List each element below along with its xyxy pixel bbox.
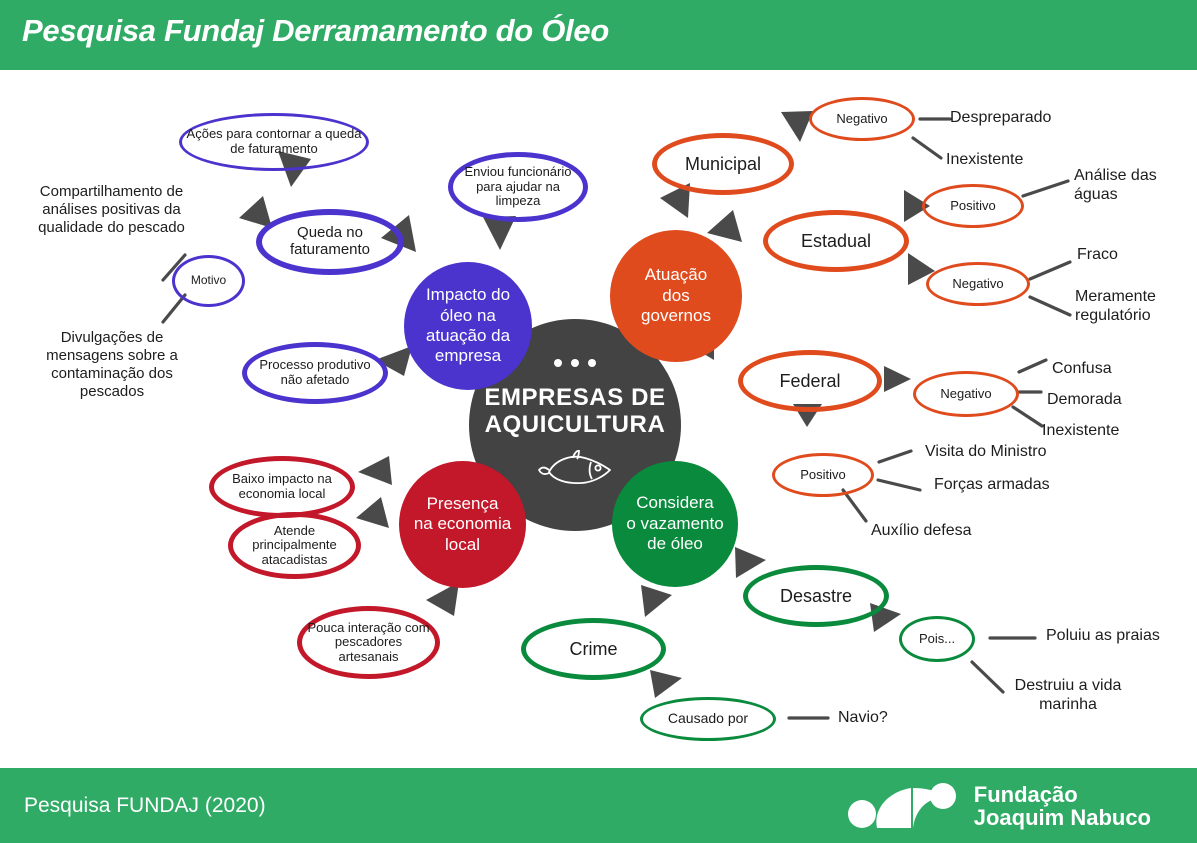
node-atacadistas-label: Atende principalmente atacadistas xyxy=(233,524,356,568)
arrow-economia-baixo xyxy=(358,456,392,485)
line-munneg-inexistente xyxy=(913,138,941,158)
node-motivo-label: Motivo xyxy=(187,274,230,287)
node-pouca-interacao-label: Pouca interação com pescadores artesanai… xyxy=(302,621,435,665)
infographic-page: Pesquisa Fundaj Derramamento do Óleo .ar… xyxy=(0,0,1197,843)
arrow-municipal-negativo xyxy=(781,111,813,142)
node-enviou-funcionario[interactable]: Enviou funcionário para ajudar na limpez… xyxy=(448,152,588,222)
node-processo-produtivo-label: Processo produtivo não afetado xyxy=(247,358,383,387)
node-municipal-negativo[interactable]: Negativo xyxy=(809,97,915,141)
line-fedpos-forcas xyxy=(878,480,920,490)
node-estadual[interactable]: Estadual xyxy=(763,210,909,272)
leaf-auxilio-defesa: Auxílio defesa xyxy=(871,521,972,540)
line-estneg-meramente xyxy=(1030,297,1070,315)
node-causado-por-label: Causado por xyxy=(664,711,752,727)
leaf-divulgacoes: Divulgações de mensagens sobre a contami… xyxy=(24,329,200,401)
category-atuacao-governos-label: Atuação dos governos xyxy=(641,265,711,326)
line-fedneg-inexistente xyxy=(1013,407,1042,426)
node-federal[interactable]: Federal xyxy=(738,350,882,412)
node-crime[interactable]: Crime xyxy=(521,618,666,680)
leaf-navio: Navio? xyxy=(838,708,888,727)
fish-icon xyxy=(537,450,613,491)
node-causado-por[interactable]: Causado por xyxy=(640,697,776,741)
category-presenca-economia[interactable]: Presença na economia local xyxy=(399,461,526,588)
node-federal-positivo[interactable]: Positivo xyxy=(772,453,874,497)
node-federal-negativo[interactable]: Negativo xyxy=(913,371,1019,417)
node-atacadistas[interactable]: Atende principalmente atacadistas xyxy=(228,512,361,579)
node-pois[interactable]: Pois... xyxy=(899,616,975,662)
node-processo-produtivo[interactable]: Processo produtivo não afetado xyxy=(242,342,388,404)
node-crime-label: Crime xyxy=(566,639,622,659)
category-impacto-empresa-label: Impacto do óleo na atuação da empresa xyxy=(426,285,510,367)
hub-dots-icon xyxy=(554,359,596,367)
fundaj-logo: Fundação Joaquim Nabuco xyxy=(847,782,1151,832)
node-desastre-label: Desastre xyxy=(776,586,856,606)
category-atuacao-governos[interactable]: Atuação dos governos xyxy=(610,230,742,362)
leaf-poluiu-praias: Poluiu as praias xyxy=(1046,626,1160,645)
node-federal-negativo-label: Negativo xyxy=(936,387,995,402)
leaf-demorada: Demorada xyxy=(1047,390,1122,409)
mindmap-canvas: .ar { fill: #4A4A4A; } .ln { stroke: #4A… xyxy=(0,70,1197,768)
line-pois-destruiu xyxy=(972,662,1003,692)
node-municipal-negativo-label: Negativo xyxy=(832,112,891,127)
node-estadual-label: Estadual xyxy=(797,231,875,251)
category-considera-vazamento-label: Considera o vazamento de óleo xyxy=(626,493,723,554)
arrow-economia-atacadistas xyxy=(356,497,389,528)
leaf-forcas-armadas: Forças armadas xyxy=(934,475,1050,494)
fundaj-logo-mark xyxy=(847,782,965,832)
arrow-crime-causadopor xyxy=(650,670,682,698)
line-fedpos-visita xyxy=(879,451,911,462)
leaf-destruiu-vida-marinha: Destruiu a vida marinha xyxy=(1013,676,1123,714)
node-municipal[interactable]: Municipal xyxy=(652,133,794,195)
node-estadual-negativo-label: Negativo xyxy=(948,277,1007,292)
leaf-inexistente-municipal: Inexistente xyxy=(946,150,1023,169)
node-estadual-positivo-label: Positivo xyxy=(946,199,1000,214)
node-queda-faturamento[interactable]: Queda no faturamento xyxy=(256,209,404,275)
page-title: Pesquisa Fundaj Derramamento do Óleo xyxy=(22,13,609,49)
page-footer: Pesquisa FUNDAJ (2020) Fundação Joaquim … xyxy=(0,768,1197,843)
node-baixo-impacto[interactable]: Baixo impacto na economia local xyxy=(209,456,355,518)
line-estpos-analise xyxy=(1023,181,1068,196)
footer-credit: Pesquisa FUNDAJ (2020) xyxy=(24,794,266,818)
category-considera-vazamento[interactable]: Considera o vazamento de óleo xyxy=(612,461,738,587)
node-enviou-funcionario-label: Enviou funcionário para ajudar na limpez… xyxy=(453,165,583,209)
line-fedpos-auxilio xyxy=(843,490,866,521)
leaf-fraco: Fraco xyxy=(1077,245,1118,264)
node-acoes-contornar[interactable]: Ações para contornar a queda de faturame… xyxy=(179,113,369,171)
leaf-inexistente-federal: Inexistente xyxy=(1042,421,1119,440)
node-acoes-contornar-label: Ações para contornar a queda de faturame… xyxy=(182,127,366,156)
leaf-visita-ministro: Visita do Ministro xyxy=(925,442,1047,461)
node-pouca-interacao[interactable]: Pouca interação com pescadores artesanai… xyxy=(297,606,440,679)
arrow-governos-estadual xyxy=(707,210,742,242)
node-estadual-positivo[interactable]: Positivo xyxy=(922,184,1024,228)
logo-line-2: Joaquim Nabuco xyxy=(974,807,1151,830)
node-queda-faturamento-label: Queda no faturamento xyxy=(262,225,398,259)
fundaj-logo-text: Fundação Joaquim Nabuco xyxy=(974,784,1151,829)
arrow-federal-negativo xyxy=(884,366,911,392)
node-pois-label: Pois... xyxy=(915,632,959,647)
arrow-vazamento-desastre xyxy=(735,547,766,578)
node-motivo[interactable]: Motivo xyxy=(172,255,245,307)
logo-line-1: Fundação xyxy=(974,784,1151,807)
leaf-analise-aguas: Análise das águas xyxy=(1074,166,1174,204)
leaf-meramente-regulatorio: Meramente regulatório xyxy=(1075,287,1187,325)
leaf-confusa: Confusa xyxy=(1052,359,1112,378)
node-federal-positivo-label: Positivo xyxy=(796,468,850,483)
leaf-compartilhamento: Compartilhamento de análises positivas d… xyxy=(30,183,193,237)
category-impacto-empresa[interactable]: Impacto do óleo na atuação da empresa xyxy=(404,262,532,390)
hub-title: EMPRESAS DE AQUICULTURA xyxy=(484,385,665,439)
line-fedneg-confusa xyxy=(1019,360,1046,372)
leaf-despreparado: Despreparado xyxy=(950,108,1051,127)
page-header: Pesquisa Fundaj Derramamento do Óleo xyxy=(0,0,1197,70)
node-desastre[interactable]: Desastre xyxy=(743,565,889,627)
node-baixo-impacto-label: Baixo impacto na economia local xyxy=(214,472,350,501)
category-presenca-economia-label: Presença na economia local xyxy=(414,494,511,555)
arrow-vazamento-crime xyxy=(641,585,672,617)
node-estadual-negativo[interactable]: Negativo xyxy=(926,262,1030,306)
node-federal-label: Federal xyxy=(775,371,844,391)
line-estneg-fraco xyxy=(1030,262,1070,279)
node-municipal-label: Municipal xyxy=(681,154,765,174)
